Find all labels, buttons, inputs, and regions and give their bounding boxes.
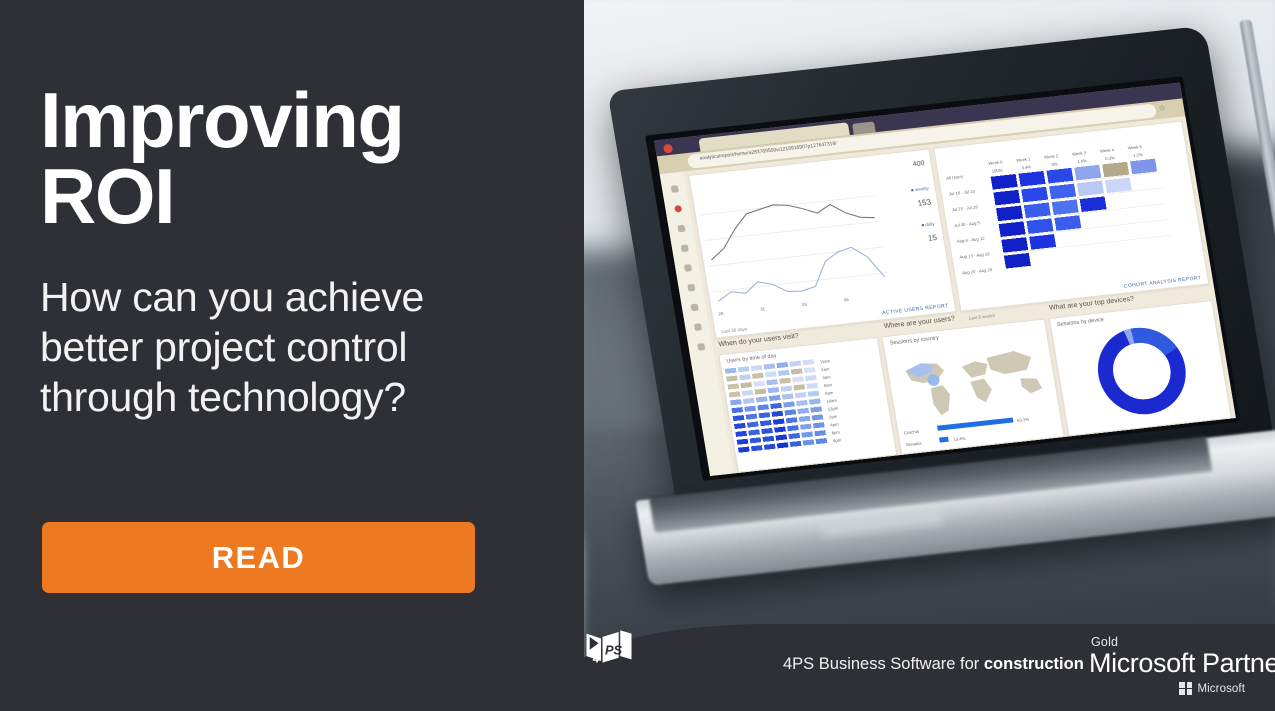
svg-text:06: 06 <box>844 297 850 303</box>
users-by-time-heatmap: 11am 2am 4am 6am 8am 10am 12pm 2pm 4pm 6… <box>725 352 895 471</box>
svg-text:13.4%: 13.4% <box>953 436 966 442</box>
svg-text:10am: 10am <box>826 398 838 404</box>
subtitle-line-2: better project control <box>40 322 540 372</box>
world-map-chart: Czechia Slovakia 83.2% 13.4% <box>888 333 1062 453</box>
microsoft-tier-label: Gold <box>1091 635 1118 649</box>
svg-text:Aug 13 - Aug 19: Aug 13 - Aug 19 <box>958 251 990 259</box>
sessions-donut-chart <box>1056 317 1230 433</box>
footer-content: 4 PS 4PS Business Software for construct… <box>583 624 1275 711</box>
microsoft-partner-title: Microsoft Partner <box>1089 648 1275 679</box>
cohort-heatmap: All Users Jul 16 - Jul 22 Jul 23 - Jul 2… <box>942 136 1204 300</box>
svg-text:4pm: 4pm <box>830 422 839 428</box>
microsoft-squares-icon <box>1179 682 1192 695</box>
svg-text:83.2%: 83.2% <box>1017 417 1030 423</box>
svg-text:2am: 2am <box>821 366 830 372</box>
svg-text:Czechia: Czechia <box>903 429 920 436</box>
read-button[interactable]: READ <box>42 522 475 593</box>
sidebar-icon-discover <box>697 343 705 351</box>
svg-text:Week 2: Week 2 <box>1044 153 1060 160</box>
svg-text:Jul 23 - Jul 29: Jul 23 - Jul 29 <box>950 204 978 212</box>
svg-text:Aug 20 - Aug 26: Aug 20 - Aug 26 <box>961 267 993 275</box>
analytics-dashboard: 28 31 03 06 400 ■ weekly 153 ■ daily 15 … <box>684 116 1236 473</box>
svg-text:Week 3: Week 3 <box>1072 150 1088 157</box>
card-title-sessions-by-device: Sessions by device <box>1057 317 1105 328</box>
headline-line-2: ROI <box>40 158 560 234</box>
svg-text:03: 03 <box>802 302 808 308</box>
svg-text:Jul 30 - Aug 5: Jul 30 - Aug 5 <box>953 220 981 228</box>
card-sessions-by-device: Sessions by device <box>1049 300 1232 436</box>
brand-tagline-prefix: 4PS Business Software for <box>783 655 984 673</box>
svg-text:2pm: 2pm <box>829 414 838 420</box>
sidebar-icon-alert <box>674 205 682 213</box>
svg-text:12pm: 12pm <box>827 406 839 412</box>
svg-text:11am: 11am <box>819 358 830 364</box>
brand-tagline-strong: construction <box>984 655 1084 673</box>
svg-text:All Users: All Users <box>945 174 964 181</box>
card-title-sessions-by-country: Sessions by country <box>889 335 939 346</box>
svg-text:31: 31 <box>760 306 766 312</box>
svg-text:Week 5: Week 5 <box>1127 144 1143 151</box>
page-subtitle: How can you achieve better project contr… <box>40 272 540 422</box>
svg-text:0.3%: 0.3% <box>1105 155 1116 161</box>
svg-text:28: 28 <box>718 311 724 317</box>
svg-text:Week 0: Week 0 <box>988 159 1004 166</box>
svg-text:6pm: 6pm <box>831 429 840 435</box>
svg-text:Week 4: Week 4 <box>1100 147 1116 154</box>
microsoft-logo: Microsoft <box>1179 682 1245 695</box>
svg-text:1.2%: 1.2% <box>1133 152 1144 158</box>
brand-tagline: 4PS Business Software for construction <box>783 655 1084 674</box>
left-text-panel: Improving ROI How can you achieve better… <box>0 0 584 711</box>
sidebar-icon-acquisition <box>684 264 692 272</box>
svg-text:8pm: 8pm <box>833 437 842 443</box>
svg-text:1.6%: 1.6% <box>1077 158 1088 164</box>
svg-text:Week 1: Week 1 <box>1016 156 1032 163</box>
headline-line-1: Improving <box>40 82 560 158</box>
svg-text:8am: 8am <box>825 390 834 396</box>
svg-text:3%: 3% <box>1051 161 1058 167</box>
browser-tab-secondary <box>852 121 876 134</box>
svg-text:Slovakia: Slovakia <box>905 441 922 448</box>
page-title: Improving ROI <box>40 82 560 235</box>
active-users-chart: 28 31 03 06 <box>696 169 898 327</box>
laptop-photo: analytics/report/home/a283769550w1219916… <box>583 0 1275 711</box>
card-sessions-by-country: Sessions by country <box>882 318 1065 454</box>
subtitle-line-1: How can you achieve <box>40 272 540 322</box>
cohort-date-range[interactable]: Last 6 weeks <box>968 313 995 321</box>
svg-text:6am: 6am <box>823 382 832 388</box>
svg-text:Aug 6 - Aug 12: Aug 6 - Aug 12 <box>955 236 985 244</box>
sidebar-icon-conversions <box>690 304 698 312</box>
card-active-users: 28 31 03 06 400 ■ weekly 153 ■ daily 15 … <box>688 148 956 338</box>
svg-text:Jul 16 - Jul 22: Jul 16 - Jul 22 <box>948 189 976 197</box>
laptop-device: analytics/report/home/a283769550w1219916… <box>606 0 1275 599</box>
svg-text:4: 4 <box>592 652 600 666</box>
svg-text:3.4%: 3.4% <box>1021 164 1032 170</box>
svg-text:100%: 100% <box>991 167 1003 173</box>
svg-text:4am: 4am <box>822 374 831 380</box>
browser-window: analytics/report/home/a283769550w1219916… <box>654 83 1236 476</box>
4ps-logo: 4 PS <box>583 624 635 669</box>
microsoft-wordmark: Microsoft <box>1197 683 1245 695</box>
sidebar-icon-behavior <box>687 284 695 292</box>
card-users-by-time: Users by time of day <box>718 337 897 473</box>
bookmark-star-icon: ☆ <box>1158 103 1167 113</box>
svg-text:PS: PS <box>605 643 623 658</box>
active-users-date-range[interactable]: Last 30 days <box>721 326 747 334</box>
sidebar-icon-home <box>670 185 678 193</box>
read-button-label: READ <box>212 540 305 576</box>
sidebar-icon-audience <box>680 244 688 252</box>
sidebar-icon-admin <box>693 323 701 331</box>
sidebar-icon-realtime <box>677 225 685 233</box>
marketing-banner: analytics/report/home/a283769550w1219916… <box>0 0 1275 711</box>
card-cohort-analysis: All Users Jul 16 - Jul 22 Jul 23 - Jul 2… <box>933 121 1209 312</box>
subtitle-line-3: through technology? <box>40 372 540 422</box>
laptop-screen: analytics/report/home/a283769550w1219916… <box>645 76 1240 481</box>
